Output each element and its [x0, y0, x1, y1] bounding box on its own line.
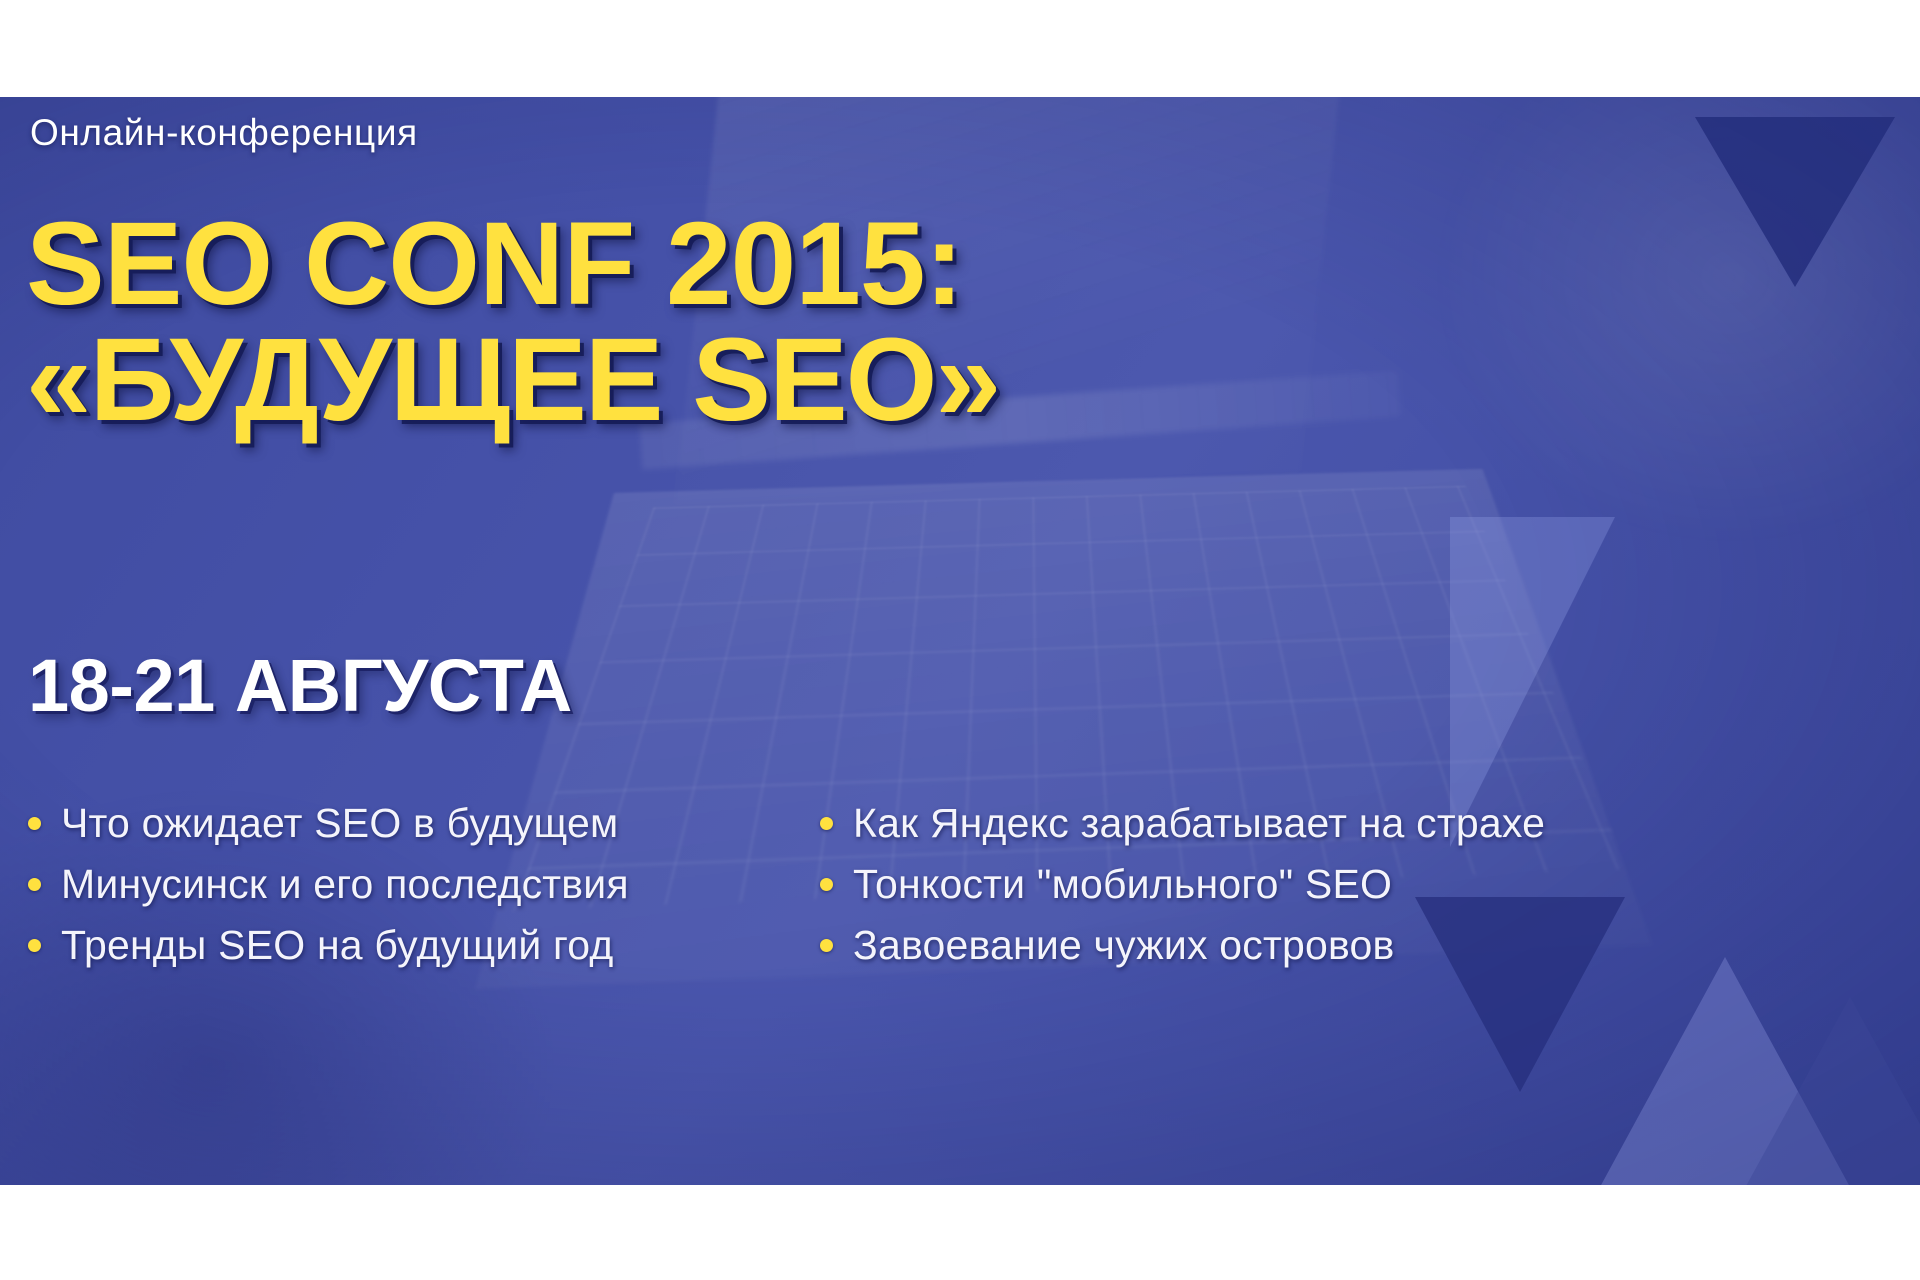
list-item: Завоевание чужих островов: [820, 922, 1610, 969]
bullet-dot-icon: [820, 939, 833, 952]
list-item: Что ожидает SEO в будущем: [28, 800, 728, 847]
topics-column-left: Что ожидает SEO в будущем Минусинск и ег…: [28, 800, 728, 969]
poster-content: Онлайн-конференция SEO CONF 2015: «БУДУЩ…: [0, 97, 1920, 1185]
conference-poster: Онлайн-конференция SEO CONF 2015: «БУДУЩ…: [0, 97, 1920, 1185]
page-title: SEO CONF 2015: «БУДУЩЕЕ SEO»: [26, 207, 999, 438]
topic-label: Тренды SEO на будущий год: [61, 922, 614, 969]
headline-line-2: «БУДУЩЕЕ SEO»: [26, 323, 999, 439]
topic-label: Минусинск и его последствия: [61, 861, 629, 908]
bullet-dot-icon: [28, 939, 41, 952]
bullet-dot-icon: [820, 817, 833, 830]
topic-label: Как Яндекс зарабатывает на страхе: [853, 800, 1545, 847]
event-type-kicker: Онлайн-конференция: [30, 112, 418, 154]
bullet-dot-icon: [28, 878, 41, 891]
topic-label: Завоевание чужих островов: [853, 922, 1394, 969]
headline-line-1: SEO CONF 2015:: [26, 207, 999, 323]
bullet-dot-icon: [820, 878, 833, 891]
list-item: Как Яндекс зарабатывает на страхе: [820, 800, 1610, 847]
topics-column-right: Как Яндекс зарабатывает на страхе Тонкос…: [820, 800, 1610, 969]
list-item: Тонкости "мобильного" SEO: [820, 861, 1610, 908]
topics-list: Что ожидает SEO в будущем Минусинск и ег…: [28, 800, 1648, 969]
topic-label: Тонкости "мобильного" SEO: [853, 861, 1392, 908]
topic-label: Что ожидает SEO в будущем: [61, 800, 618, 847]
bullet-dot-icon: [28, 817, 41, 830]
event-dates: 18-21 АВГУСТА: [28, 643, 572, 728]
banner-frame: Онлайн-конференция SEO CONF 2015: «БУДУЩ…: [0, 0, 1920, 1280]
list-item: Тренды SEO на будущий год: [28, 922, 728, 969]
list-item: Минусинск и его последствия: [28, 861, 728, 908]
